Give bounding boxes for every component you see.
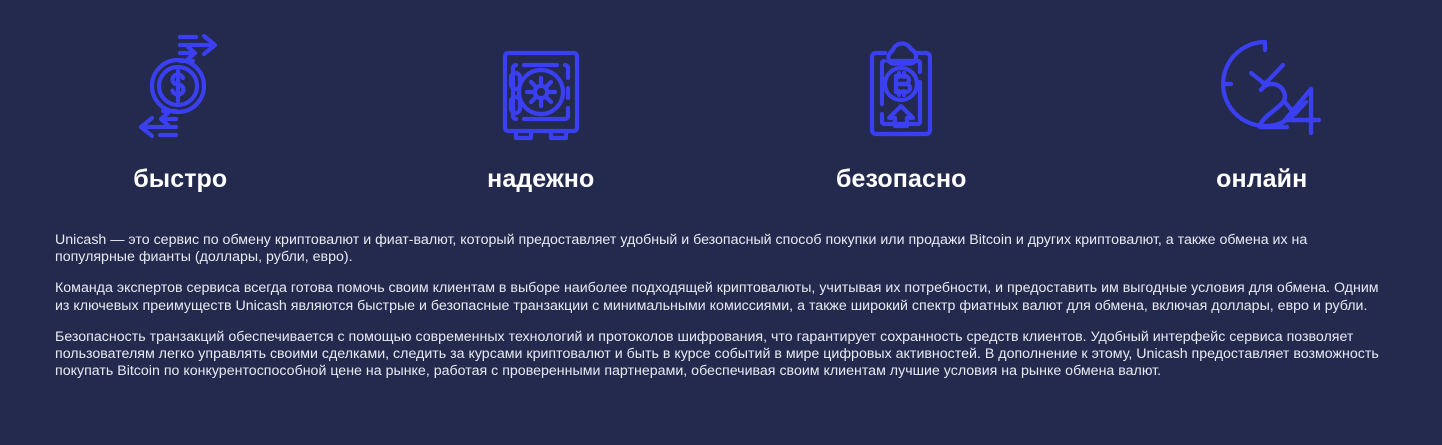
feature-list: быстро: [0, 0, 1442, 192]
bitcoin-clipboard-cloud-icon: [841, 18, 961, 153]
feature-label-fast: быстро: [133, 167, 227, 192]
feature-label-safe: надежно: [487, 167, 594, 192]
safe-vault-icon: [481, 18, 601, 153]
feature-label-secure: безопасно: [836, 167, 967, 192]
description-block: Unicash — это сервис по обмену криптовал…: [55, 232, 1390, 380]
feature-item-safe: надежно: [361, 18, 722, 192]
feature-item-online: онлайн: [1082, 18, 1442, 192]
paragraph-2: Команда экспертов сервиса всегда готова …: [55, 280, 1390, 314]
feature-item-secure: безопасно: [721, 18, 1082, 192]
feature-item-fast: быстро: [0, 18, 361, 192]
features-section: быстро: [0, 0, 1442, 445]
clock-24-icon: [1201, 18, 1323, 153]
paragraph-3: Безопасность транзакций обеспечивается с…: [55, 329, 1390, 381]
feature-label-online: онлайн: [1216, 167, 1307, 192]
coin-exchange-arrows-icon: [120, 18, 240, 153]
paragraph-1: Unicash — это сервис по обмену криптовал…: [55, 232, 1390, 266]
